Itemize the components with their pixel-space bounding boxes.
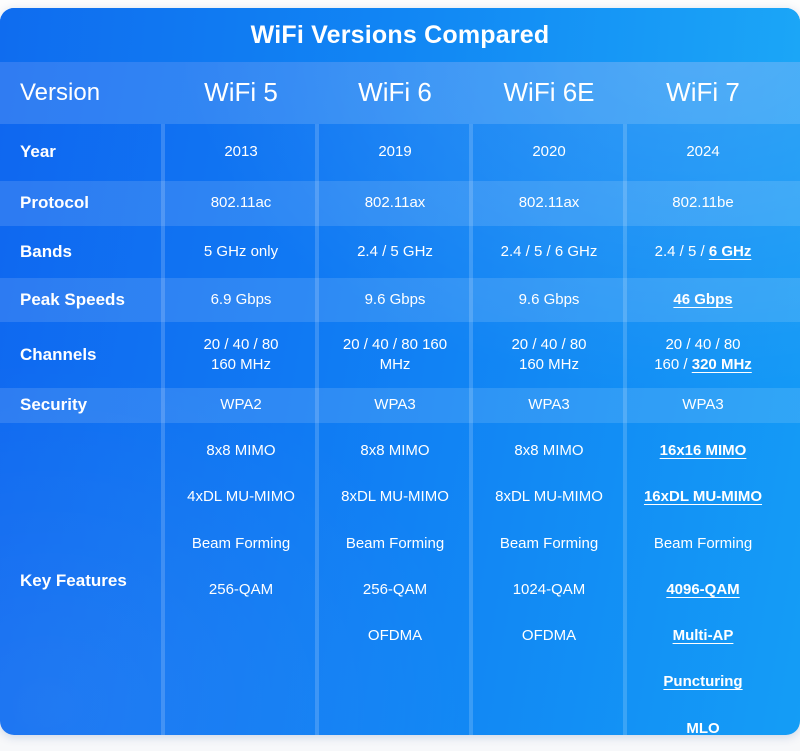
table-body: Year2013201920202024Protocol802.11ac802.… [0,124,800,423]
cell-channels-wifi6e: 20 / 40 / 80160 MHz [472,322,626,388]
feature-item: MLO [686,719,719,736]
feature-item: OFDMA [522,626,576,646]
cell-content: 802.11ac [211,193,272,213]
header-cell-version: Version [0,62,164,124]
header-cell-wifi7: WiFi 7 [626,62,780,124]
feature-item: Puncturing [663,672,742,692]
feature-list-wifi5: 8x8 MIMO4xDL MU-MIMOBeam Forming256-QAM [170,441,312,600]
header-cell-wifi6e: WiFi 6E [472,62,626,124]
table-row-channels: Channels20 / 40 / 80160 MHz20 / 40 / 80 … [0,322,800,388]
cell-peak-speeds-wifi6: 9.6 Gbps [318,278,472,322]
cell-content: WPA2 [220,395,261,415]
feature-item: 8x8 MIMO [206,441,275,461]
feature-item: Beam Forming [346,534,444,554]
cell-content: 20 / 40 / 80160 / 320 MHz [654,335,752,376]
cell-content: 2020 [532,142,565,162]
cell-protocol-wifi6: 802.11ax [318,181,472,226]
feature-item: 8x8 MIMO [514,441,583,461]
cell-text: WPA3 [682,396,723,413]
cell-content: WPA3 [374,395,415,415]
feature-cell-wifi7: 16x16 MIMO16xDL MU-MIMOBeam Forming4096-… [626,423,780,735]
feature-list-wifi7: 16x16 MIMO16xDL MU-MIMOBeam Forming4096-… [632,441,774,735]
feature-item: 8x8 MIMO [360,441,429,461]
feature-item: 256-QAM [209,580,273,600]
cell-text: 160 MHz [211,356,271,373]
cell-text: WPA3 [528,396,569,413]
table-row-bands: Bands5 GHz only2.4 / 5 GHz2.4 / 5 / 6 GH… [0,226,800,278]
cell-bands-wifi7: 2.4 / 5 / 6 GHz [626,226,780,278]
comparison-card: WiFi Versions Compared Version WiFi 5 Wi… [0,8,800,735]
page-canvas: WiFi Versions Compared Version WiFi 5 Wi… [0,0,800,751]
cell-text: WPA3 [374,396,415,413]
feature-item: 16xDL MU-MIMO [644,487,762,507]
cell-peak-speeds-wifi6e: 9.6 Gbps [472,278,626,322]
page-title: WiFi Versions Compared [251,21,550,50]
table-row-peak-speeds: Peak Speeds6.9 Gbps9.6 Gbps9.6 Gbps46 Gb… [0,278,800,322]
cell-content: 46 Gbps [673,290,732,310]
highlight-text: 320 MHz [692,356,752,373]
highlight-text: 46 Gbps [673,291,732,308]
cell-security-wifi6: WPA3 [318,388,472,423]
cell-year-wifi6e: 2020 [472,124,626,181]
feature-cell-wifi5: 8x8 MIMO4xDL MU-MIMOBeam Forming256-QAM [164,423,318,735]
cell-text: 9.6 Gbps [365,291,426,308]
cell-text: 9.6 Gbps [519,291,580,308]
cell-content: 9.6 Gbps [365,290,426,310]
cell-content: 9.6 Gbps [519,290,580,310]
cell-content: 20 / 40 / 80160 MHz [203,335,278,376]
cell-content: 802.11ax [365,193,426,213]
feature-item: 4xDL MU-MIMO [187,487,295,507]
cell-text: 2.4 / 5 / [655,243,709,260]
feature-item: 1024-QAM [513,580,586,600]
table-row-year: Year2013201920202024 [0,124,800,181]
row-label-peak-speeds: Peak Speeds [0,278,164,322]
cell-year-wifi5: 2013 [164,124,318,181]
cell-text: 2013 [224,143,257,160]
feature-item: Beam Forming [192,534,290,554]
feature-item: OFDMA [368,626,422,646]
cell-channels-wifi7: 20 / 40 / 80160 / 320 MHz [626,322,780,388]
header-cell-wifi6: WiFi 6 [318,62,472,124]
feature-cell-wifi6: 8x8 MIMO8xDL MU-MIMOBeam Forming256-QAMO… [318,423,472,735]
cell-content: 20 / 40 / 80160 MHz [511,335,586,376]
feature-list-wifi6: 8x8 MIMO8xDL MU-MIMOBeam Forming256-QAMO… [324,441,466,646]
cell-text: WPA2 [220,396,261,413]
table-header-row: Version WiFi 5 WiFi 6 WiFi 6E WiFi 7 [0,62,800,124]
cell-text: 20 / 40 / 80 [203,336,278,353]
cell-text: 20 / 40 / 80 160 [343,336,447,353]
feature-item: 8xDL MU-MIMO [495,487,603,507]
cell-content: 2024 [686,142,719,162]
cell-text: 2019 [378,143,411,160]
cell-text: 802.11ac [211,194,272,211]
cell-protocol-wifi7: 802.11be [626,181,780,226]
feature-list-wifi6e: 8x8 MIMO8xDL MU-MIMOBeam Forming1024-QAM… [478,441,620,646]
cell-bands-wifi6e: 2.4 / 5 / 6 GHz [472,226,626,278]
cell-text: 2024 [686,143,719,160]
feature-cell-wifi6e: 8x8 MIMO8xDL MU-MIMOBeam Forming1024-QAM… [472,423,626,735]
feature-item: Beam Forming [500,534,598,554]
cell-text: 20 / 40 / 80 [665,336,740,353]
row-label-protocol: Protocol [0,181,164,226]
header-cell-wifi5: WiFi 5 [164,62,318,124]
table-row-protocol: Protocol802.11ac802.11ax802.11ax802.11be [0,181,800,226]
feature-item: 8xDL MU-MIMO [341,487,449,507]
cell-bands-wifi6: 2.4 / 5 GHz [318,226,472,278]
cell-text: 6.9 Gbps [211,291,272,308]
cell-security-wifi5: WPA2 [164,388,318,423]
cell-security-wifi7: WPA3 [626,388,780,423]
feature-item: 16x16 MIMO [660,441,747,461]
cell-text: 5 GHz only [204,243,278,260]
comparison-table: Version WiFi 5 WiFi 6 WiFi 6E WiFi 7 Yea… [0,62,800,735]
cell-text: MHz [380,356,411,373]
cell-text: 2020 [532,143,565,160]
cell-text: 20 / 40 / 80 [511,336,586,353]
cell-content: 6.9 Gbps [211,290,272,310]
cell-content: 802.11ax [519,193,580,213]
cell-content: 20 / 40 / 80 160MHz [343,335,447,376]
card-title-bar: WiFi Versions Compared [0,8,800,62]
table-row-security: SecurityWPA2WPA3WPA3WPA3 [0,388,800,423]
feature-item: 256-QAM [363,580,427,600]
cell-content: 2.4 / 5 / 6 GHz [501,242,598,262]
cell-content: 2.4 / 5 / 6 GHz [655,242,752,262]
cell-content: WPA3 [528,395,569,415]
cell-text: 802.11ax [365,194,426,211]
cell-content: 2013 [224,142,257,162]
row-label-key-features: Key Features [0,423,164,735]
feature-item: Beam Forming [654,534,752,554]
row-label-channels: Channels [0,322,164,388]
cell-peak-speeds-wifi5: 6.9 Gbps [164,278,318,322]
cell-text: 2.4 / 5 GHz [357,243,433,260]
row-label-year: Year [0,124,164,181]
cell-text: 802.11ax [519,194,580,211]
cell-channels-wifi5: 20 / 40 / 80160 MHz [164,322,318,388]
feature-item: 4096-QAM [666,580,739,600]
highlight-text: 6 GHz [709,243,752,260]
row-label-bands: Bands [0,226,164,278]
cell-content: 2.4 / 5 GHz [357,242,433,262]
cell-text: 2.4 / 5 / 6 GHz [501,243,598,260]
cell-text: 160 MHz [519,356,579,373]
row-label-security: Security [0,388,164,423]
cell-content: WPA3 [682,395,723,415]
cell-text: 802.11be [672,194,733,211]
cell-content: 802.11be [672,193,733,213]
table-row-key-features: Key Features 8x8 MIMO4xDL MU-MIMOBeam Fo… [0,423,800,735]
cell-bands-wifi5: 5 GHz only [164,226,318,278]
cell-security-wifi6e: WPA3 [472,388,626,423]
cell-content: 5 GHz only [204,242,278,262]
cell-protocol-wifi5: 802.11ac [164,181,318,226]
cell-year-wifi7: 2024 [626,124,780,181]
cell-channels-wifi6: 20 / 40 / 80 160MHz [318,322,472,388]
cell-year-wifi6: 2019 [318,124,472,181]
cell-peak-speeds-wifi7: 46 Gbps [626,278,780,322]
cell-text: 160 / [654,356,692,373]
cell-protocol-wifi6e: 802.11ax [472,181,626,226]
cell-content: 2019 [378,142,411,162]
feature-item: Multi-AP [673,626,734,646]
